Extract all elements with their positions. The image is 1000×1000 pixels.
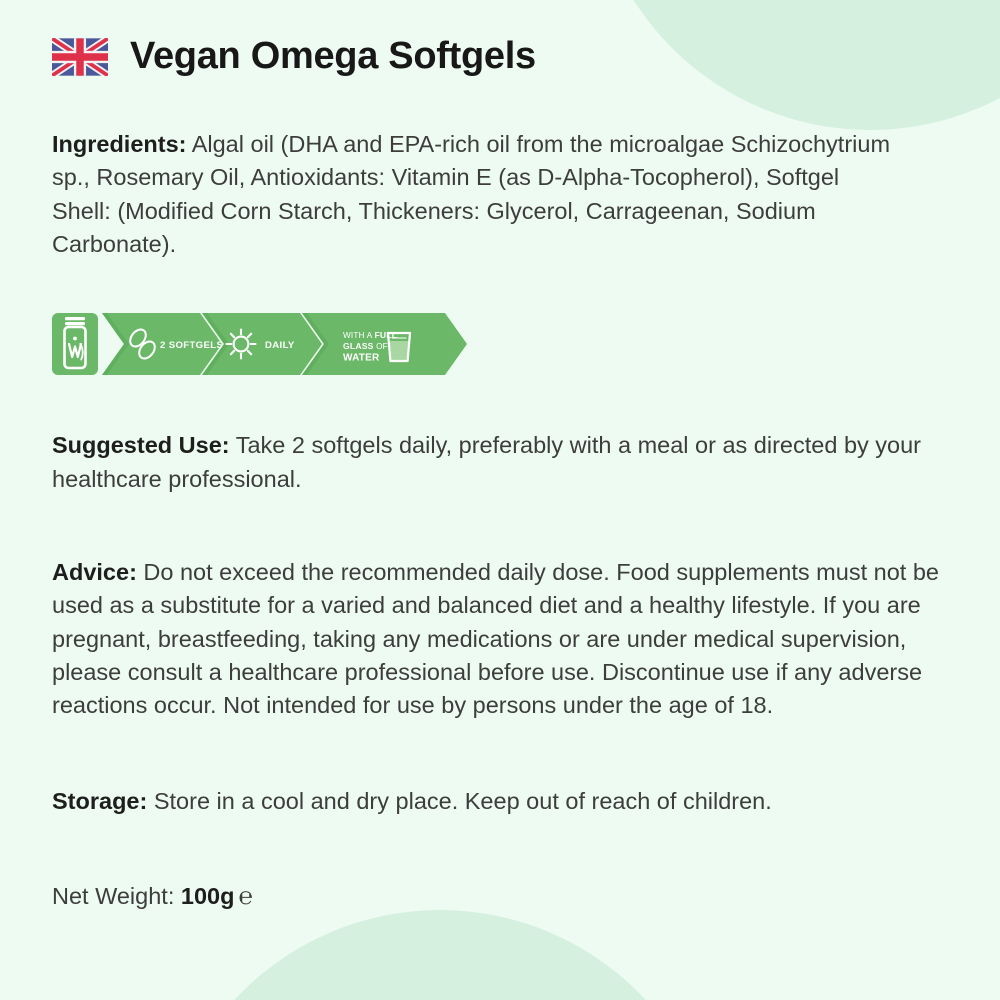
label-content: Vegan Omega Softgels Ingredients: Algal … xyxy=(0,0,1000,914)
softgels-label: 2 SOFTGELS xyxy=(160,340,223,351)
water-line1-bold: FULL xyxy=(374,330,397,340)
product-label-canvas: Vegan Omega Softgels Ingredients: Algal … xyxy=(0,0,1000,1000)
advice-section: Advice: Do not exceed the recommended da… xyxy=(52,556,948,723)
advice-label: Advice: xyxy=(52,559,137,585)
ingredients-label: Ingredients: xyxy=(52,131,186,157)
usage-banner-graphic: 2 SOFTGELS xyxy=(52,313,467,375)
advice-text: Do not exceed the recommended daily dose… xyxy=(52,559,939,718)
banner-segment-softgels: 2 SOFTGELS xyxy=(102,313,223,375)
supplement-bottle-icon xyxy=(52,313,98,375)
advice-paragraph: Advice: Do not exceed the recommended da… xyxy=(52,556,948,723)
uk-flag-icon xyxy=(52,38,108,76)
label-header: Vegan Omega Softgels xyxy=(52,0,948,78)
ingredients-section: Ingredients: Algal oil (DHA and EPA-rich… xyxy=(52,128,897,261)
banner-segment-water: WITH A FULL GLASS OF WATER xyxy=(302,313,467,375)
usage-instruction-banner: 2 SOFTGELS xyxy=(52,313,467,375)
storage-paragraph: Storage: Store in a cool and dry place. … xyxy=(52,785,948,818)
storage-label: Storage: xyxy=(52,788,147,814)
suggested-use-paragraph: Suggested Use: Take 2 softgels daily, pr… xyxy=(52,429,948,496)
page-title: Vegan Omega Softgels xyxy=(130,36,536,78)
net-weight-line: Net Weight: 100g℮ xyxy=(52,880,948,914)
daily-label: DAILY xyxy=(265,340,295,351)
ingredients-paragraph: Ingredients: Algal oil (DHA and EPA-rich… xyxy=(52,128,897,261)
net-weight-label: Net Weight: xyxy=(52,883,174,909)
storage-text: Store in a cool and dry place. Keep out … xyxy=(147,788,771,814)
water-line3-bold: WATER xyxy=(343,353,380,364)
net-weight-value: 100g xyxy=(181,883,235,909)
suggested-use-label: Suggested Use: xyxy=(52,432,230,458)
estimated-sign-icon: ℮ xyxy=(238,883,252,910)
storage-section: Storage: Store in a cool and dry place. … xyxy=(52,785,948,818)
water-line2-bold: GLASS xyxy=(343,341,374,351)
svg-text:WITH A FULL: WITH A FULL xyxy=(343,330,397,340)
water-line1-regular: WITH A xyxy=(343,331,374,340)
decorative-blob-bottom xyxy=(160,910,720,1000)
net-weight-section: Net Weight: 100g℮ xyxy=(52,880,948,914)
svg-text:GLASS OF: GLASS OF xyxy=(343,341,388,351)
suggested-use-section: Suggested Use: Take 2 softgels daily, pr… xyxy=(52,429,948,496)
water-line2-regular: OF xyxy=(374,342,388,351)
